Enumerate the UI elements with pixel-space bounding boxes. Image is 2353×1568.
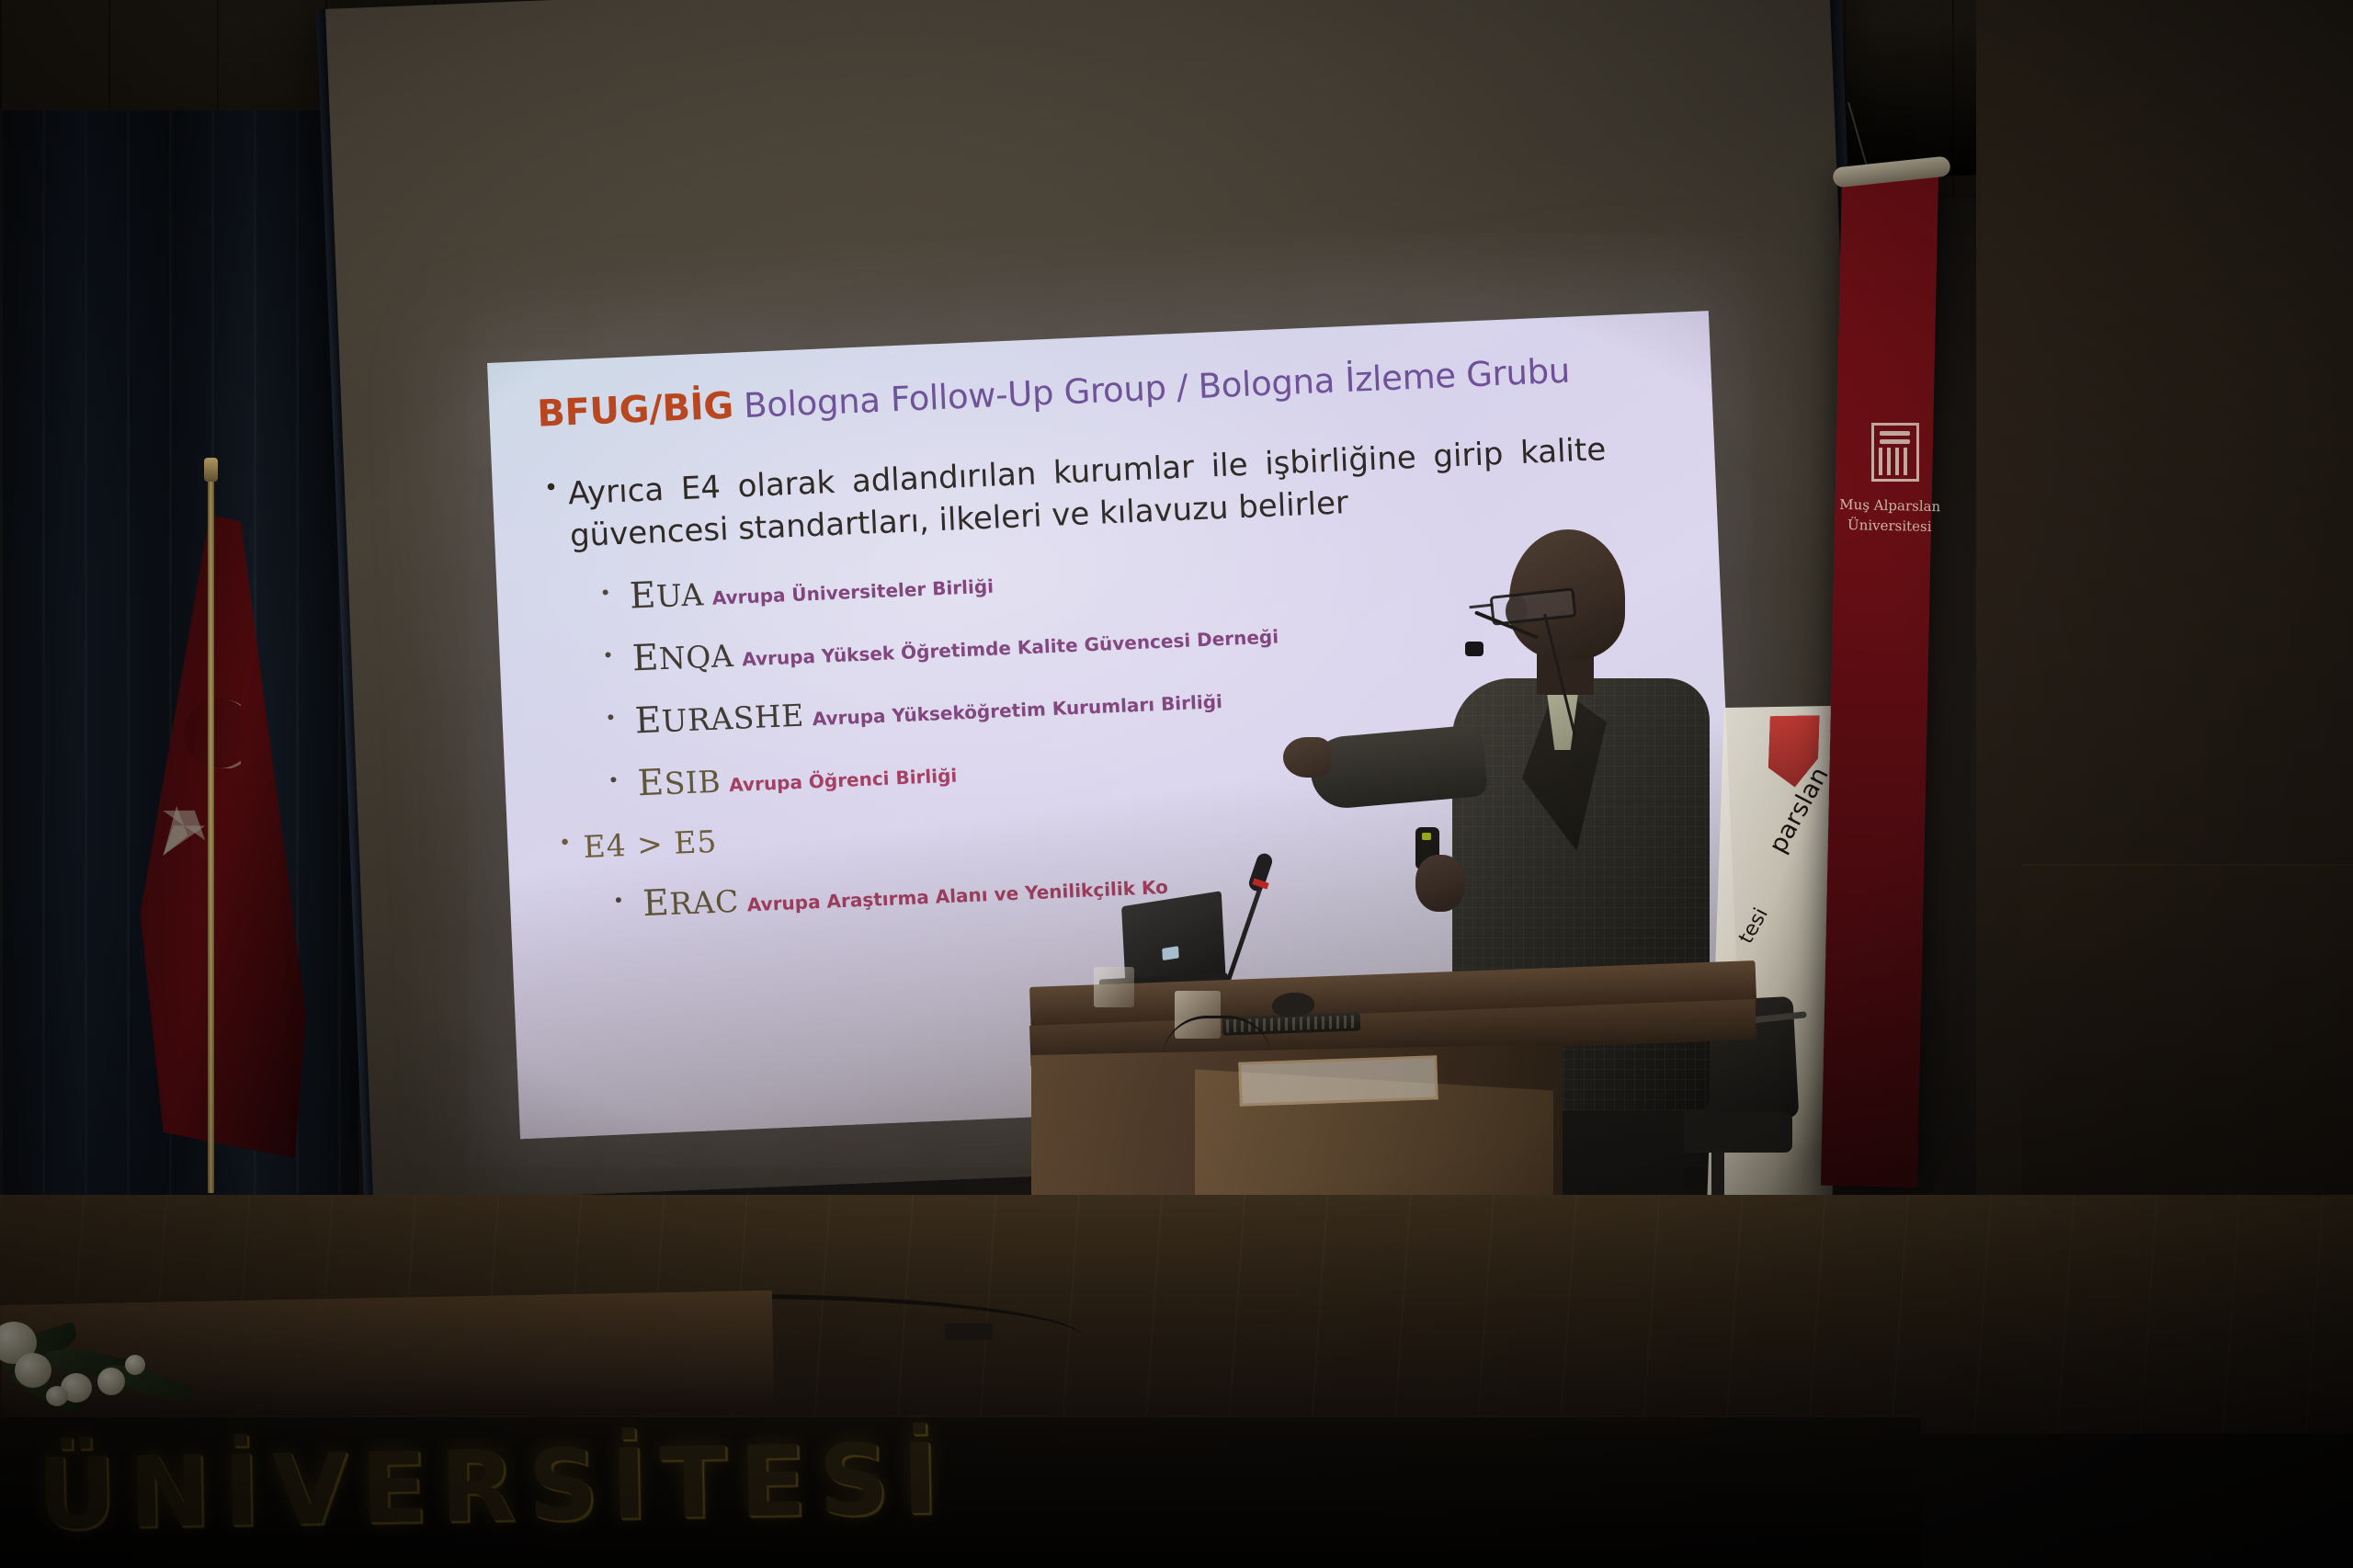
org-rest-letters: UA <box>655 576 704 614</box>
org-code-eua: EUA <box>629 576 704 615</box>
red-banner-line2: Üniversitesi <box>1835 515 1945 537</box>
slide-title-expansion: Bologna Follow-Up Group / Bologna İzleme… <box>733 351 1571 426</box>
flag-crescent-icon <box>171 699 241 768</box>
red-banner-line1: Muş Alparslan <box>1835 495 1945 517</box>
presentation-photo-scene: BFUG/BİG Bologna Follow-Up Group / Bolog… <box>0 0 2353 1568</box>
org-code-eurashe: EURASHE <box>634 698 804 741</box>
presenter-pointing-hand <box>1283 737 1331 778</box>
presenter-other-hand <box>1415 855 1465 912</box>
org-rest-letters: URASHE <box>661 698 804 740</box>
laptop-logo-icon <box>1162 946 1178 960</box>
stage-letters-text: ÜNİVERSİTESİ <box>36 1422 952 1551</box>
org-rest-letters: RAC <box>668 883 739 922</box>
org-gloss-enqa: Avrupa Yüksek Öğretimde Kalite Güvencesi… <box>742 626 1279 671</box>
org-gloss-eua: Avrupa Üniversiteler Birliği <box>711 575 994 609</box>
org-cap-letter: E <box>637 762 665 804</box>
white-rose <box>97 1368 125 1395</box>
presenter-pointing-arm <box>1308 724 1488 811</box>
org-code-enqa: ENQA <box>631 638 734 678</box>
microphone-icon <box>1465 642 1483 656</box>
org-code-esib: ESIB <box>637 764 722 803</box>
org-cap-letter: E <box>642 882 670 925</box>
flag-pole <box>208 467 214 1193</box>
white-rose <box>46 1386 68 1406</box>
org-rest-letters: NQA <box>658 638 734 676</box>
podium-shelf-slot <box>1238 1055 1438 1107</box>
stage-letters: ÜNİVERSİTESİ <box>36 1422 952 1551</box>
org-gloss-erac: Avrupa Araştırma Alanı ve Yenilikçilik K… <box>746 876 1168 916</box>
water-glass <box>1094 967 1134 1007</box>
org-gloss-esib: Avrupa Öğrenci Birliği <box>729 765 958 797</box>
org-gloss-eurashe: Avrupa Yükseköğretim Kurumları Birliği <box>812 690 1222 730</box>
flag-pole-finial <box>204 458 218 482</box>
university-crest-icon <box>1871 423 1919 482</box>
org-cap-letter: E <box>634 699 663 742</box>
slide-title-acronym: BFUG/BİG <box>536 385 733 436</box>
org-cap-letter: E <box>631 637 660 679</box>
org-rest-letters: SIB <box>664 764 722 802</box>
red-banner-text: Muş Alparslan Üniversitesi <box>1835 495 1946 538</box>
org-cap-letter: E <box>629 574 657 617</box>
floor-power-plug <box>945 1324 993 1340</box>
progression-text: E4 > E5 <box>583 824 718 865</box>
org-code-erac: ERAC <box>642 883 740 923</box>
white-rose <box>15 1353 51 1388</box>
slide-title: BFUG/BİG Bologna Follow-Up Group / Bolog… <box>536 345 1689 435</box>
white-rose <box>125 1355 145 1375</box>
